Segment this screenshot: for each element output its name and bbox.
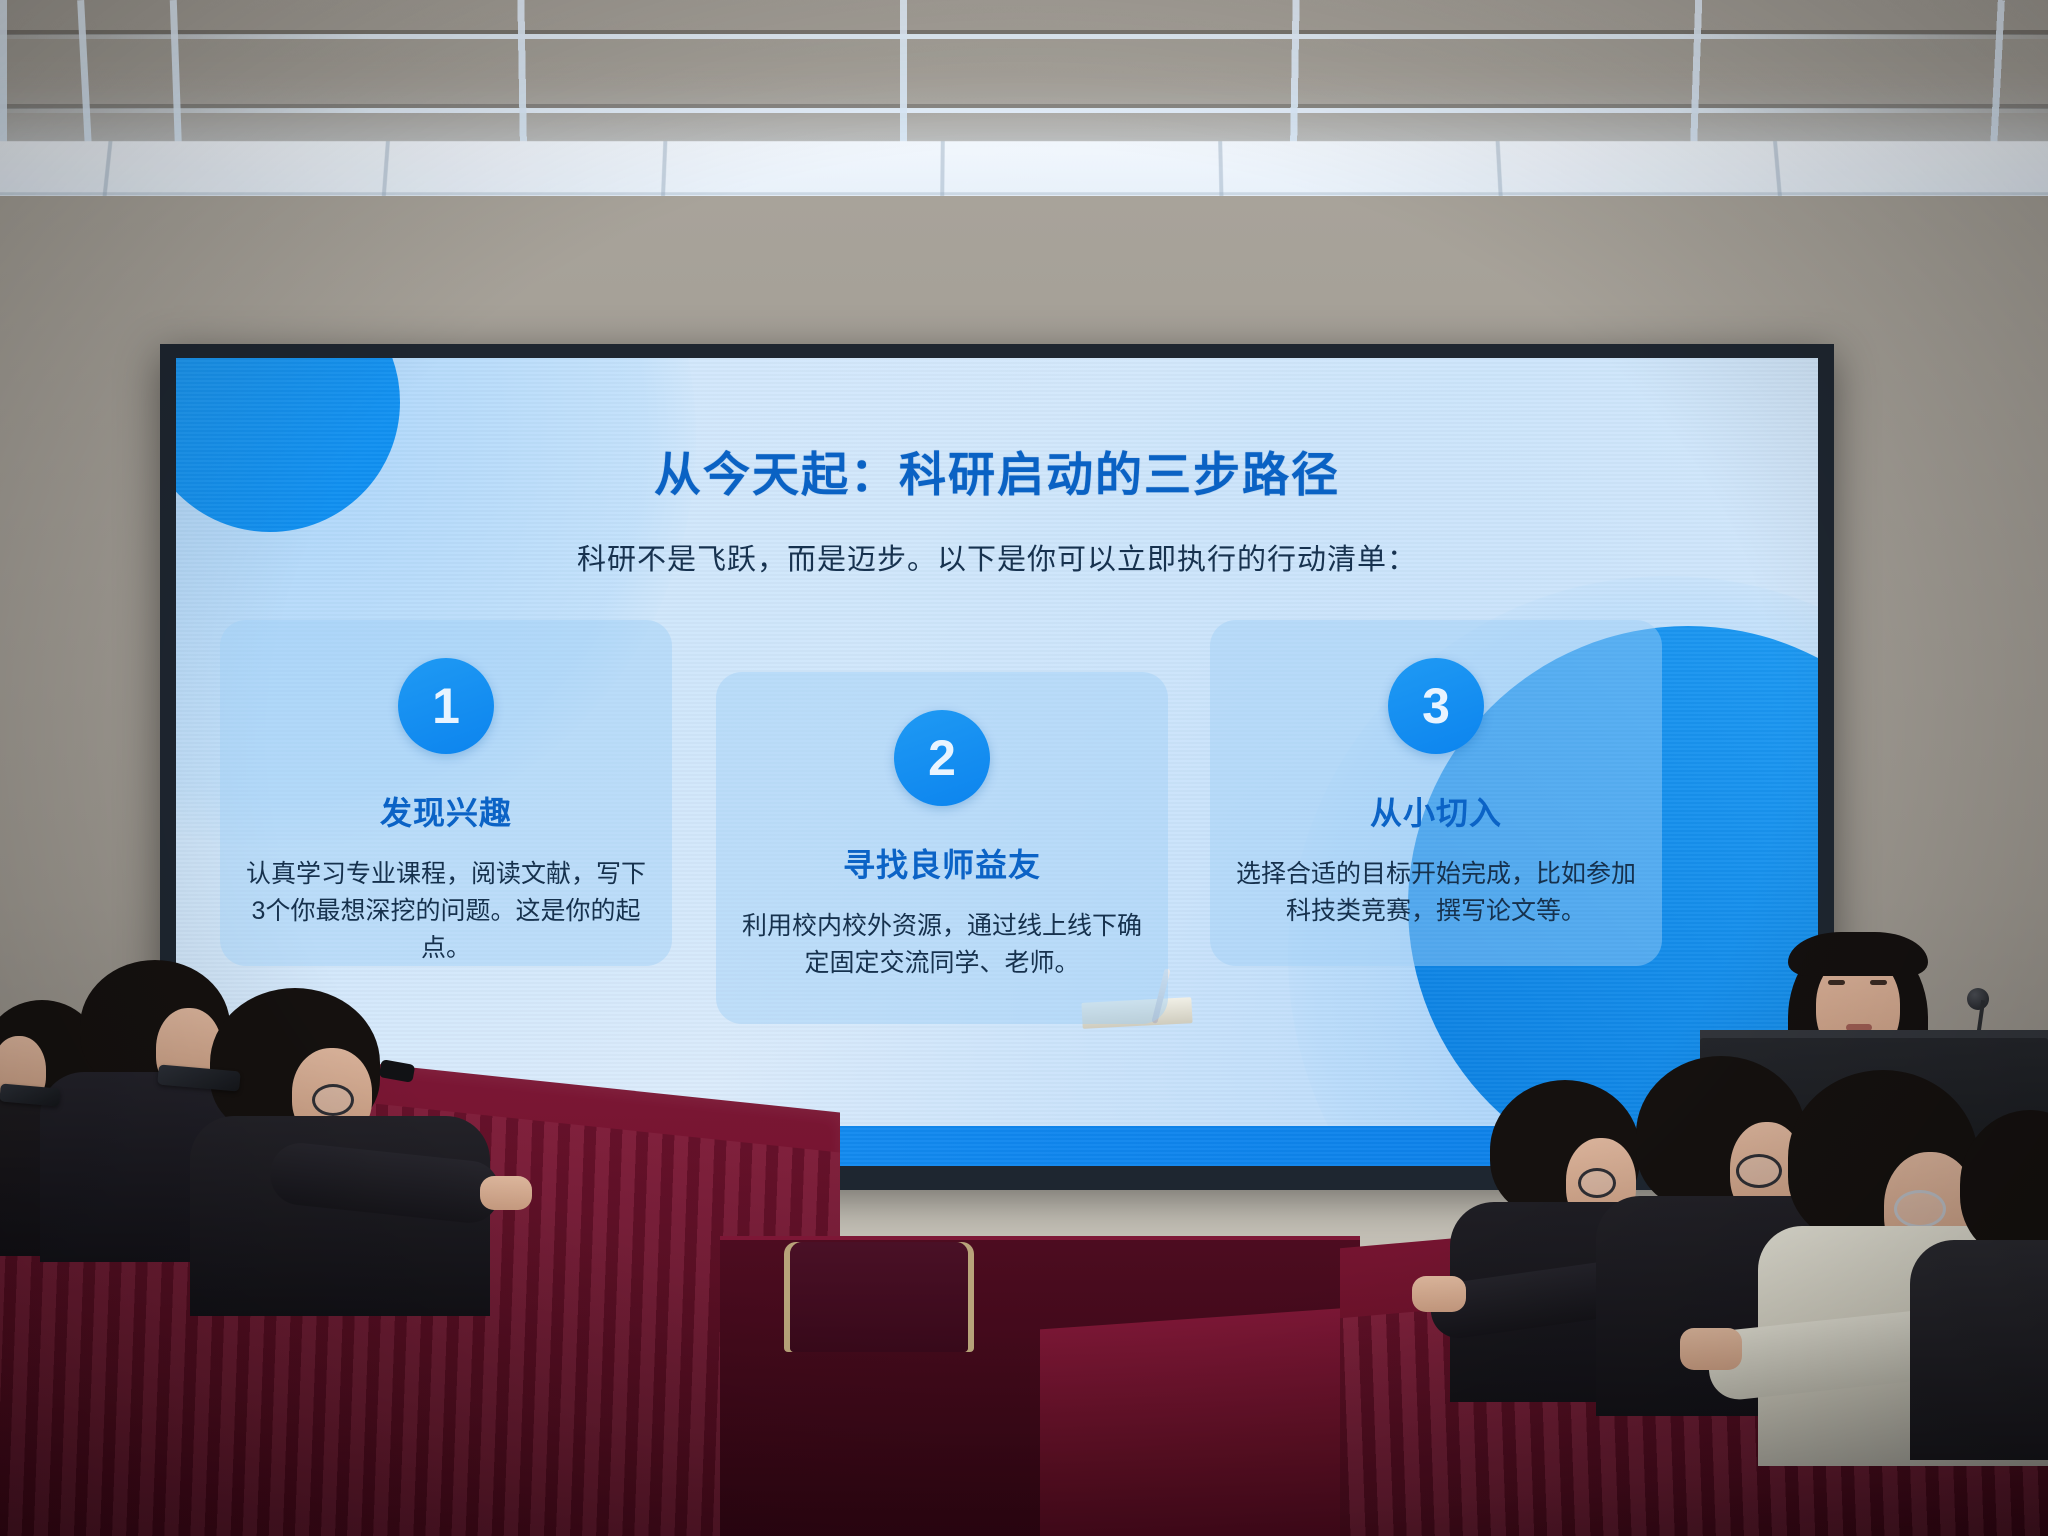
projection-screen[interactable]: 从今天起：科研启动的三步路径 科研不是飞跃，而是迈步。以下是你可以立即执行的行动… [160,344,1834,1190]
step-card-group: 1 发现兴趣 认真学习专业课程，阅读文献，写下3个你最想深挖的问题。这是你的起点… [202,620,1792,1060]
step-card-body-2: 利用校内校外资源，通过线上线下确定固定交流同学、老师。 [742,908,1142,982]
ceiling-grid-rail [0,34,2048,39]
step-number-badge-2: 2 [894,710,990,806]
conference-room-scene: 从今天起：科研启动的三步路径 科研不是飞跃，而是迈步。以下是你可以立即执行的行动… [0,0,2048,1536]
presentation-slide: 从今天起：科研启动的三步路径 科研不是飞跃，而是迈步。以下是你可以立即执行的行动… [176,358,1818,1166]
step-card-3[interactable]: 3 从小切入 选择合适的目标开始完成，比如参加科技类竞赛，撰写论文等。 [1210,620,1662,966]
step-card-title-2: 寻找良师益友 [742,840,1142,886]
microphone-icon [1967,988,1989,1010]
step-card-2[interactable]: 2 寻找良师益友 利用校内校外资源，通过线上线下确定固定交流同学、老师。 [716,672,1168,1024]
slide-subtitle: 科研不是飞跃，而是迈步。以下是你可以立即执行的行动清单： [176,536,1818,578]
step-card-title-1: 发现兴趣 [246,788,646,834]
step-number-badge-3: 3 [1388,658,1484,754]
empty-chair[interactable] [790,1242,968,1352]
step-card-title-3: 从小切入 [1236,788,1636,834]
slide-title: 从今天起：科研启动的三步路径 [176,436,1818,505]
step-card-body-1: 认真学习专业课程，阅读文献，写下3个你最想深挖的问题。这是你的起点。 [246,856,646,967]
step-card-1[interactable]: 1 发现兴趣 认真学习专业课程，阅读文献，写下3个你最想深挖的问题。这是你的起点… [220,620,672,966]
seated-student-right-4 [1930,1110,2048,1410]
step-card-body-3: 选择合适的目标开始完成，比如参加科技类竞赛，撰写论文等。 [1236,856,1636,930]
ceiling-grid-rail [0,108,2048,113]
step-number-badge-1: 1 [398,658,494,754]
